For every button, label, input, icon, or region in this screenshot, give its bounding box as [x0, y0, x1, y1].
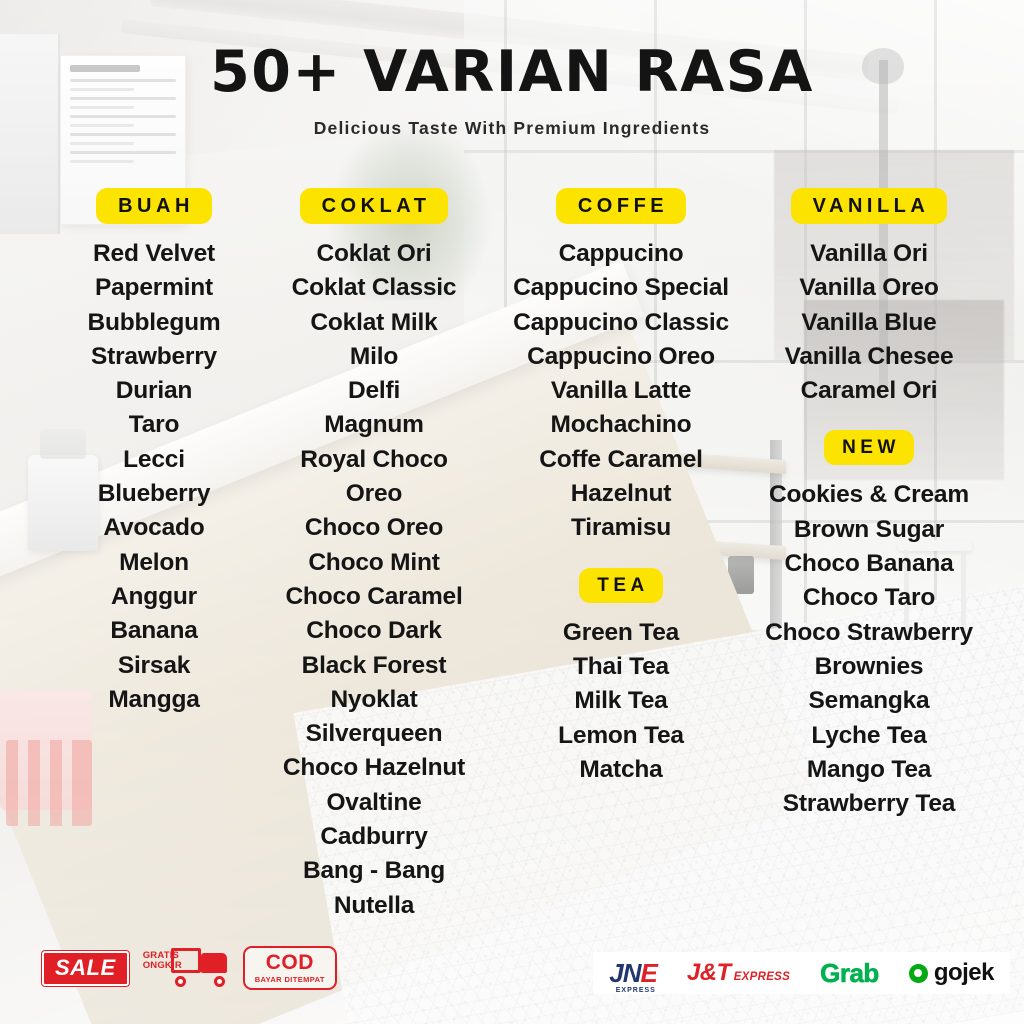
flavor-list-coffe: Cappucino Cappucino Special Cappucino Cl… — [494, 237, 748, 546]
list-item: Vanilla Chesee — [744, 340, 994, 374]
truck-cab — [201, 953, 227, 973]
list-item: Mango Tea — [744, 753, 994, 787]
category-column-coffe: COFFE Cappucino Cappucino Special Cappuc… — [494, 188, 748, 787]
page-title: 50+ VARIAN RASA — [0, 44, 1024, 101]
list-item: Green Tea — [494, 616, 748, 650]
free-shipping-truck-icon: GRATIS ONGKIR — [143, 945, 229, 991]
list-item: Coffe Caramel — [494, 443, 748, 477]
jne-logo: JNE EXPRESS — [609, 960, 657, 986]
list-item: Strawberry Tea — [744, 787, 994, 821]
list-item: Lecci — [38, 443, 270, 477]
list-item: Semangka — [744, 684, 994, 718]
list-item: Thai Tea — [494, 650, 748, 684]
cod-badge-subtitle: BAYAR DITEMPAT — [255, 975, 325, 984]
list-item: Caramel Ori — [744, 374, 994, 408]
list-item: Choco Strawberry — [744, 616, 994, 650]
category-badge-coffe: COFFE — [556, 188, 686, 224]
list-item: Red Velvet — [38, 237, 270, 271]
page-subtitle: Delicious Taste With Premium Ingredients — [0, 118, 1024, 139]
category-badge-vanilla: VANILLA — [791, 188, 948, 224]
category-badge-buah: BUAH — [96, 188, 212, 224]
list-item: Choco Hazelnut — [262, 751, 486, 785]
list-item: Cappucino Classic — [494, 306, 748, 340]
gojek-circle-icon — [909, 964, 928, 983]
subcategory-new: NEW Cookies & Cream Brown Sugar Choco Ba… — [744, 430, 994, 821]
list-item: Strawberry — [38, 340, 270, 374]
jne-logo-subtext: EXPRESS — [616, 987, 656, 994]
list-item: Avocado — [38, 511, 270, 545]
flavor-list-tea: Green Tea Thai Tea Milk Tea Lemon Tea Ma… — [494, 616, 748, 787]
list-item: Nutella — [262, 889, 486, 923]
list-item: Nyoklat — [262, 683, 486, 717]
list-item: Matcha — [494, 753, 748, 787]
jne-logo-text: JNE — [609, 960, 657, 986]
list-item: Choco Taro — [744, 581, 994, 615]
grab-logo-text: Grab — [820, 960, 879, 986]
flavor-list-coklat: Coklat Ori Coklat Classic Coklat Milk Mi… — [262, 237, 486, 923]
list-item: Taro — [38, 408, 270, 442]
list-item: Bang - Bang — [262, 854, 486, 888]
list-item: Vanilla Latte — [494, 374, 748, 408]
flavor-list-buah: Red Velvet Papermint Bubblegum Strawberr… — [38, 237, 270, 717]
list-item: Ovaltine — [262, 786, 486, 820]
list-item: Silverqueen — [262, 717, 486, 751]
truck-wheel-rear — [214, 976, 225, 987]
list-item: Magnum — [262, 408, 486, 442]
gojek-logo: gojek — [909, 961, 994, 985]
flavor-list-new: Cookies & Cream Brown Sugar Choco Banana… — [744, 478, 994, 821]
jnt-logo-text: J&T — [687, 961, 731, 985]
category-badge-tea: TEA — [579, 568, 663, 603]
list-item: Choco Banana — [744, 547, 994, 581]
list-item: Brownies — [744, 650, 994, 684]
jnt-logo: J&T EXPRESS — [687, 961, 790, 985]
list-item: Choco Dark — [262, 614, 486, 648]
cod-badge-title: COD — [255, 952, 325, 973]
list-item: Milk Tea — [494, 684, 748, 718]
sale-badge: SALE — [42, 951, 129, 986]
list-item: Choco Oreo — [262, 511, 486, 545]
jnt-logo-subtext: EXPRESS — [734, 972, 790, 986]
list-item: Vanilla Ori — [744, 237, 994, 271]
list-item: Coklat Milk — [262, 306, 486, 340]
subcategory-tea: TEA Green Tea Thai Tea Milk Tea Lemon Te… — [494, 568, 748, 787]
list-item: Cadburry — [262, 820, 486, 854]
list-item: Lemon Tea — [494, 719, 748, 753]
list-item: Hazelnut — [494, 477, 748, 511]
list-item: Vanilla Blue — [744, 306, 994, 340]
list-item: Papermint — [38, 271, 270, 305]
list-item: Cappucino Oreo — [494, 340, 748, 374]
list-item: Cappucino Special — [494, 271, 748, 305]
list-item: Cookies & Cream — [744, 478, 994, 512]
list-item: Vanilla Oreo — [744, 271, 994, 305]
list-item: Blueberry — [38, 477, 270, 511]
list-item: Cappucino — [494, 237, 748, 271]
list-item: Anggur — [38, 580, 270, 614]
truck-wheel-front — [175, 976, 186, 987]
flavor-list-vanilla: Vanilla Ori Vanilla Oreo Vanilla Blue Va… — [744, 237, 994, 408]
category-column-coklat: COKLAT Coklat Ori Coklat Classic Coklat … — [262, 188, 486, 923]
partner-logos: JNE EXPRESS J&T EXPRESS Grab gojek — [593, 952, 1010, 994]
list-item: Choco Mint — [262, 546, 486, 580]
category-badge-new: NEW — [824, 430, 914, 465]
list-item: Bubblegum — [38, 306, 270, 340]
list-item: Coklat Ori — [262, 237, 486, 271]
truck-box — [171, 948, 201, 973]
list-item: Sirsak — [38, 649, 270, 683]
category-column-buah: BUAH Red Velvet Papermint Bubblegum Stra… — [38, 188, 270, 717]
promo-badges: SALE GRATIS ONGKIR COD BAYAR DITEMPAT — [42, 945, 337, 991]
category-badge-coklat: COKLAT — [300, 188, 449, 224]
category-column-vanilla: VANILLA Vanilla Ori Vanilla Oreo Vanilla… — [744, 188, 994, 821]
list-item: Delfi — [262, 374, 486, 408]
list-item: Durian — [38, 374, 270, 408]
grab-logo: Grab — [820, 960, 879, 986]
list-item: Mangga — [38, 683, 270, 717]
list-item: Brown Sugar — [744, 513, 994, 547]
list-item: Black Forest — [262, 649, 486, 683]
list-item: Royal Choco — [262, 443, 486, 477]
list-item: Tiramisu — [494, 511, 748, 545]
poster-content: 50+ VARIAN RASA Delicious Taste With Pre… — [0, 0, 1024, 1024]
list-item: Choco Caramel — [262, 580, 486, 614]
cod-badge: COD BAYAR DITEMPAT — [243, 946, 337, 990]
list-item: Coklat Classic — [262, 271, 486, 305]
list-item: Oreo — [262, 477, 486, 511]
gojek-logo-text: gojek — [934, 961, 994, 985]
list-item: Banana — [38, 614, 270, 648]
list-item: Melon — [38, 546, 270, 580]
list-item: Lyche Tea — [744, 719, 994, 753]
list-item: Mochachino — [494, 408, 748, 442]
list-item: Milo — [262, 340, 486, 374]
